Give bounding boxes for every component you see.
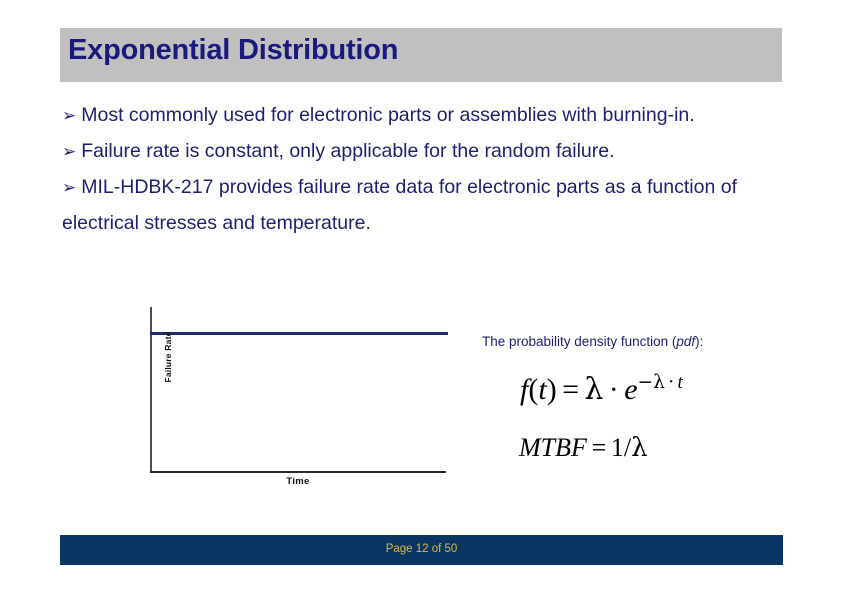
slide-canvas: Exponential Distribution ➢Most commonly … bbox=[0, 0, 842, 595]
formula-pdf-exp-t: t bbox=[678, 372, 683, 393]
formula-pdf-exp-lambda: λ bbox=[653, 372, 665, 393]
formula-pdf-lambda: λ bbox=[584, 372, 603, 407]
formula-pdf: f(t)=λ·e−λ·t bbox=[520, 372, 683, 407]
list-item-label: MIL-HDBK-217 provides failure rate data … bbox=[62, 176, 737, 234]
pdf-caption: The probability density function (pdf): bbox=[482, 334, 703, 349]
formula-pdf-equals: = bbox=[562, 373, 579, 406]
page-title: Exponential Distribution bbox=[68, 34, 398, 67]
list-item: ➢Failure rate is constant, only applicab… bbox=[62, 134, 778, 170]
page-number-label: Page 12 of 50 bbox=[60, 543, 783, 555]
list-item-label: Failure rate is constant, only applicabl… bbox=[81, 140, 614, 162]
bullet-arrow-icon: ➢ bbox=[62, 99, 81, 134]
footer-bar: Page 12 of 50 bbox=[60, 535, 783, 565]
pdf-caption-prefix: The probability density function ( bbox=[482, 334, 676, 349]
bullet-arrow-icon: ➢ bbox=[62, 171, 81, 206]
formula-pdf-dot: · bbox=[609, 373, 619, 406]
formula-pdf-t: t bbox=[538, 373, 546, 406]
formula-pdf-exponent: −λ·t bbox=[638, 372, 683, 393]
formula-mtbf-equals: = bbox=[592, 433, 607, 462]
bullet-arrow-icon: ➢ bbox=[62, 135, 81, 170]
list-item-label: Most commonly used for electronic parts … bbox=[81, 104, 694, 126]
formula-mtbf-one: 1 bbox=[611, 433, 624, 462]
formula-mtbf-lambda: λ bbox=[631, 433, 647, 463]
chart-x-axis-label: Time bbox=[150, 476, 446, 487]
title-band: Exponential Distribution bbox=[60, 28, 782, 82]
formula-pdf-close-paren: ) bbox=[547, 373, 557, 406]
chart-x-axis bbox=[150, 471, 446, 473]
formula-pdf-open-paren: ( bbox=[528, 373, 538, 406]
formula-mtbf: MTBF=1/λ bbox=[519, 433, 648, 463]
list-item: ➢MIL-HDBK-217 provides failure rate data… bbox=[62, 170, 778, 241]
formula-pdf-e: e bbox=[624, 373, 637, 406]
pdf-caption-italic: pdf bbox=[676, 334, 695, 349]
failure-rate-chart: Failure Rate Time bbox=[130, 300, 460, 495]
bullet-list: ➢Most commonly used for electronic parts… bbox=[62, 98, 778, 241]
formula-pdf-exp-minus: − bbox=[638, 372, 654, 393]
chart-plot-area bbox=[150, 305, 448, 475]
chart-y-axis-label: Failure Rate bbox=[163, 297, 173, 417]
list-item: ➢Most commonly used for electronic parts… bbox=[62, 98, 778, 134]
formula-pdf-exp-dot: · bbox=[668, 372, 674, 393]
pdf-caption-suffix: ): bbox=[695, 334, 703, 349]
formula-mtbf-lhs: MTBF bbox=[519, 433, 587, 462]
chart-series-failure-rate bbox=[150, 332, 448, 335]
